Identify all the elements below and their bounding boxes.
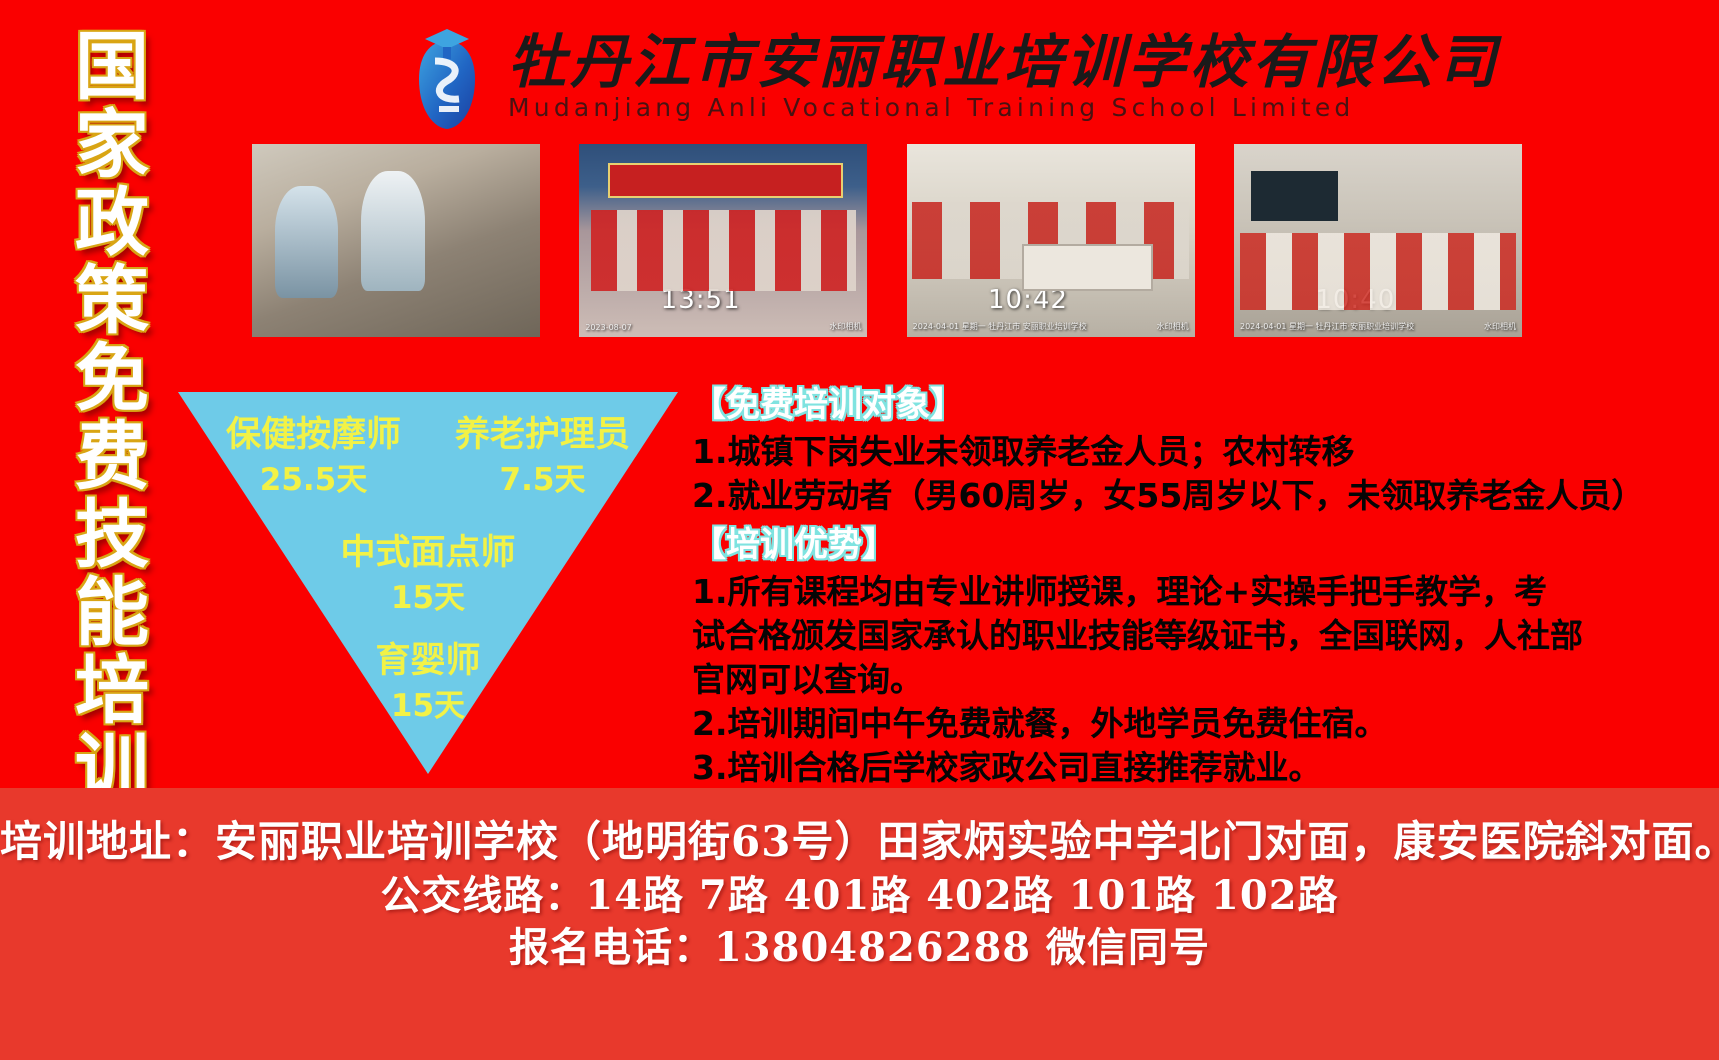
course-name: 中式面点师 (340, 532, 515, 574)
photo-timestamp: 13:51 (661, 285, 741, 315)
advantage-item: 官网可以查询。 (692, 658, 1712, 702)
footer-phone[interactable]: 报名电话：13804826288 微信同号 (0, 922, 1719, 974)
course-days: 15天 (391, 578, 465, 618)
vertical-title-char: 国 (75, 28, 149, 106)
photo-watermark: 水印相机 (829, 321, 861, 332)
course-item: 育婴师 15天 (178, 640, 678, 726)
photo-pastry-class (252, 144, 540, 337)
poster-root: 国 家 政 策 免 费 技 能 培 训 (0, 0, 1719, 1060)
photo-watermark: 水印相机 (1157, 321, 1189, 332)
photo-datestamp: 2024-04-01 星期一 牡丹江市·安丽职业培训学校 (1240, 321, 1414, 332)
footer-address: 培训地址：安丽职业培训学校（地明街63号）田家炳实验中学北门对面，康安医院斜对面… (0, 814, 1719, 870)
vertical-title-char: 费 (75, 418, 149, 496)
info-column: 【免费培训对象】 1.城镇下岗失业未领取养老金人员；农村转移 2.就业劳动者（男… (692, 382, 1712, 790)
course-days: 7.5天 (500, 460, 586, 500)
photo-datestamp: 2023-08-07 (585, 323, 632, 332)
vertical-title-char: 培 (75, 652, 149, 730)
target-item: 1.城镇下岗失业未领取养老金人员；农村转移 (692, 430, 1712, 474)
target-item: 2.就业劳动者（男60周岁，女55周岁以下，未领取养老金人员） (692, 474, 1712, 518)
brand-text: 牡丹江市安丽职业培训学校有限公司 Mudanjiang Anli Vocatio… (508, 31, 1500, 123)
course-item: 保健按摩师 25.5天 (226, 414, 401, 500)
photo-timestamp: 10:40 (1315, 285, 1395, 315)
vertical-title-char: 免 (75, 340, 149, 418)
vertical-title-char: 能 (75, 574, 149, 652)
course-item: 养老护理员 7.5天 (455, 414, 630, 500)
triangle-content: 保健按摩师 25.5天 养老护理员 7.5天 中式面点师 15天 育婴师 15天 (178, 392, 678, 774)
brand-name-en: Mudanjiang Anli Vocational Training Scho… (508, 93, 1500, 123)
photo-nursing-practice: 10:42 2024-04-01 星期一 牡丹江市 安丽职业培训学校 水印相机 (907, 144, 1195, 337)
photo-timestamp: 10:42 (988, 285, 1068, 315)
photo-watermark: 水印相机 (1484, 321, 1516, 332)
advantage-item: 试合格颁发国家承认的职业技能等级证书，全国联网，人社部 (692, 614, 1712, 658)
footer-bus-routes: 公交线路：14路 7路 401路 402路 101路 102路 (0, 870, 1719, 922)
heading-free-training-targets: 【免费培训对象】 (692, 382, 1712, 428)
contact-footer: 培训地址：安丽职业培训学校（地明街63号）田家炳实验中学北门对面，康安医院斜对面… (0, 788, 1719, 1060)
advantage-item: 1.所有课程均由专业讲师授课，理论+实操手把手教学，考 (692, 570, 1712, 614)
course-days: 25.5天 (260, 460, 368, 500)
vertical-title: 国 家 政 策 免 费 技 能 培 训 (60, 28, 164, 748)
vertical-title-char: 家 (75, 106, 149, 184)
vertical-title-char: 策 (75, 262, 149, 340)
course-item: 中式面点师 15天 (178, 532, 678, 618)
course-name: 保健按摩师 (226, 414, 401, 456)
course-triangle: 保健按摩师 25.5天 养老护理员 7.5天 中式面点师 15天 育婴师 15天 (178, 392, 678, 774)
photo-classroom-lecture: 10:40 2024-04-01 星期一 牡丹江市·安丽职业培训学校 水印相机 (1234, 144, 1522, 337)
brand-header: 牡丹江市安丽职业培训学校有限公司 Mudanjiang Anli Vocatio… (395, 18, 1295, 136)
photo-datestamp: 2024-04-01 星期一 牡丹江市 安丽职业培训学校 (913, 321, 1087, 332)
course-row-top: 保健按摩师 25.5天 养老护理员 7.5天 (178, 414, 678, 500)
course-name: 养老护理员 (455, 414, 630, 456)
vertical-title-char: 政 (75, 184, 149, 262)
graduation-cap-logo-icon (395, 23, 500, 131)
advantage-item: 2.培训期间中午免费就餐，外地学员免费住宿。 (692, 702, 1712, 746)
heading-training-advantages: 【培训优势】 (692, 522, 1712, 568)
photo-group-banner: 13:51 2023-08-07 水印相机 (579, 144, 867, 337)
photo-strip: 13:51 2023-08-07 水印相机 10:42 2024-04-01 星… (252, 144, 1522, 339)
course-days: 15天 (391, 686, 465, 726)
advantage-item: 3.培训合格后学校家政公司直接推荐就业。 (692, 746, 1712, 790)
course-name: 育婴师 (375, 640, 480, 682)
vertical-title-char: 技 (75, 496, 149, 574)
brand-name-cn: 牡丹江市安丽职业培训学校有限公司 (508, 31, 1500, 93)
